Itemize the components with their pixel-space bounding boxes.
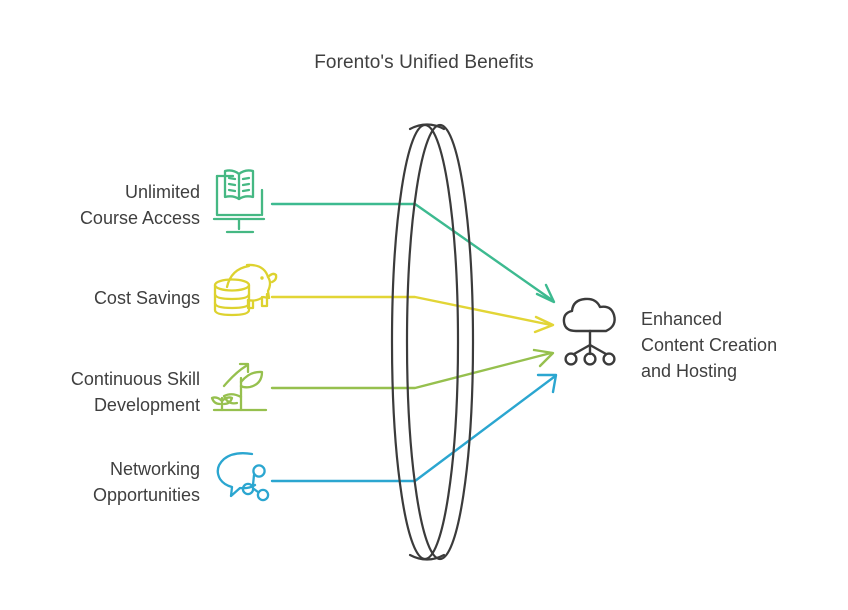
monitor-book-icon [214, 170, 264, 232]
label-line-1: Cost Savings [0, 285, 200, 311]
central-lens-shape [392, 125, 473, 560]
connector-line [272, 353, 551, 388]
connector-continuous-skill-development [272, 350, 553, 388]
lens-ellipse-front [407, 125, 473, 559]
connector-line [272, 297, 551, 325]
label-unlimited-course-access: Unlimited Course Access [0, 179, 200, 231]
label-cost-savings: Cost Savings [0, 285, 200, 311]
label-line-2: Opportunities [0, 482, 200, 508]
label-enhanced-content-creation-and-hosting: Enhanced Content Creation and Hosting [641, 306, 841, 384]
label-line-3: and Hosting [641, 358, 841, 384]
label-line-1: Continuous Skill [0, 366, 200, 392]
connector-cost-savings [272, 297, 553, 332]
label-line-2: Course Access [0, 205, 200, 231]
label-line-1: Networking [0, 456, 200, 482]
label-line-1: Unlimited [0, 179, 200, 205]
piggy-bank-coins-icon [215, 265, 276, 315]
diagram-canvas: Forento's Unified Benefits [0, 0, 848, 610]
label-networking-opportunities: Networking Opportunities [0, 456, 200, 508]
lens-ellipse-back [392, 125, 458, 559]
growing-plant-icon [212, 364, 266, 410]
label-continuous-skill-development: Continuous Skill Development [0, 366, 200, 418]
label-line-2: Content Creation [641, 332, 841, 358]
cloud-network-icon [564, 299, 615, 365]
label-line-2: Development [0, 392, 200, 418]
speech-bubble-share-icon [218, 453, 268, 500]
connector-networking-opportunities [272, 375, 556, 481]
arrowhead-icon [534, 350, 553, 366]
label-line-1: Enhanced [641, 306, 841, 332]
